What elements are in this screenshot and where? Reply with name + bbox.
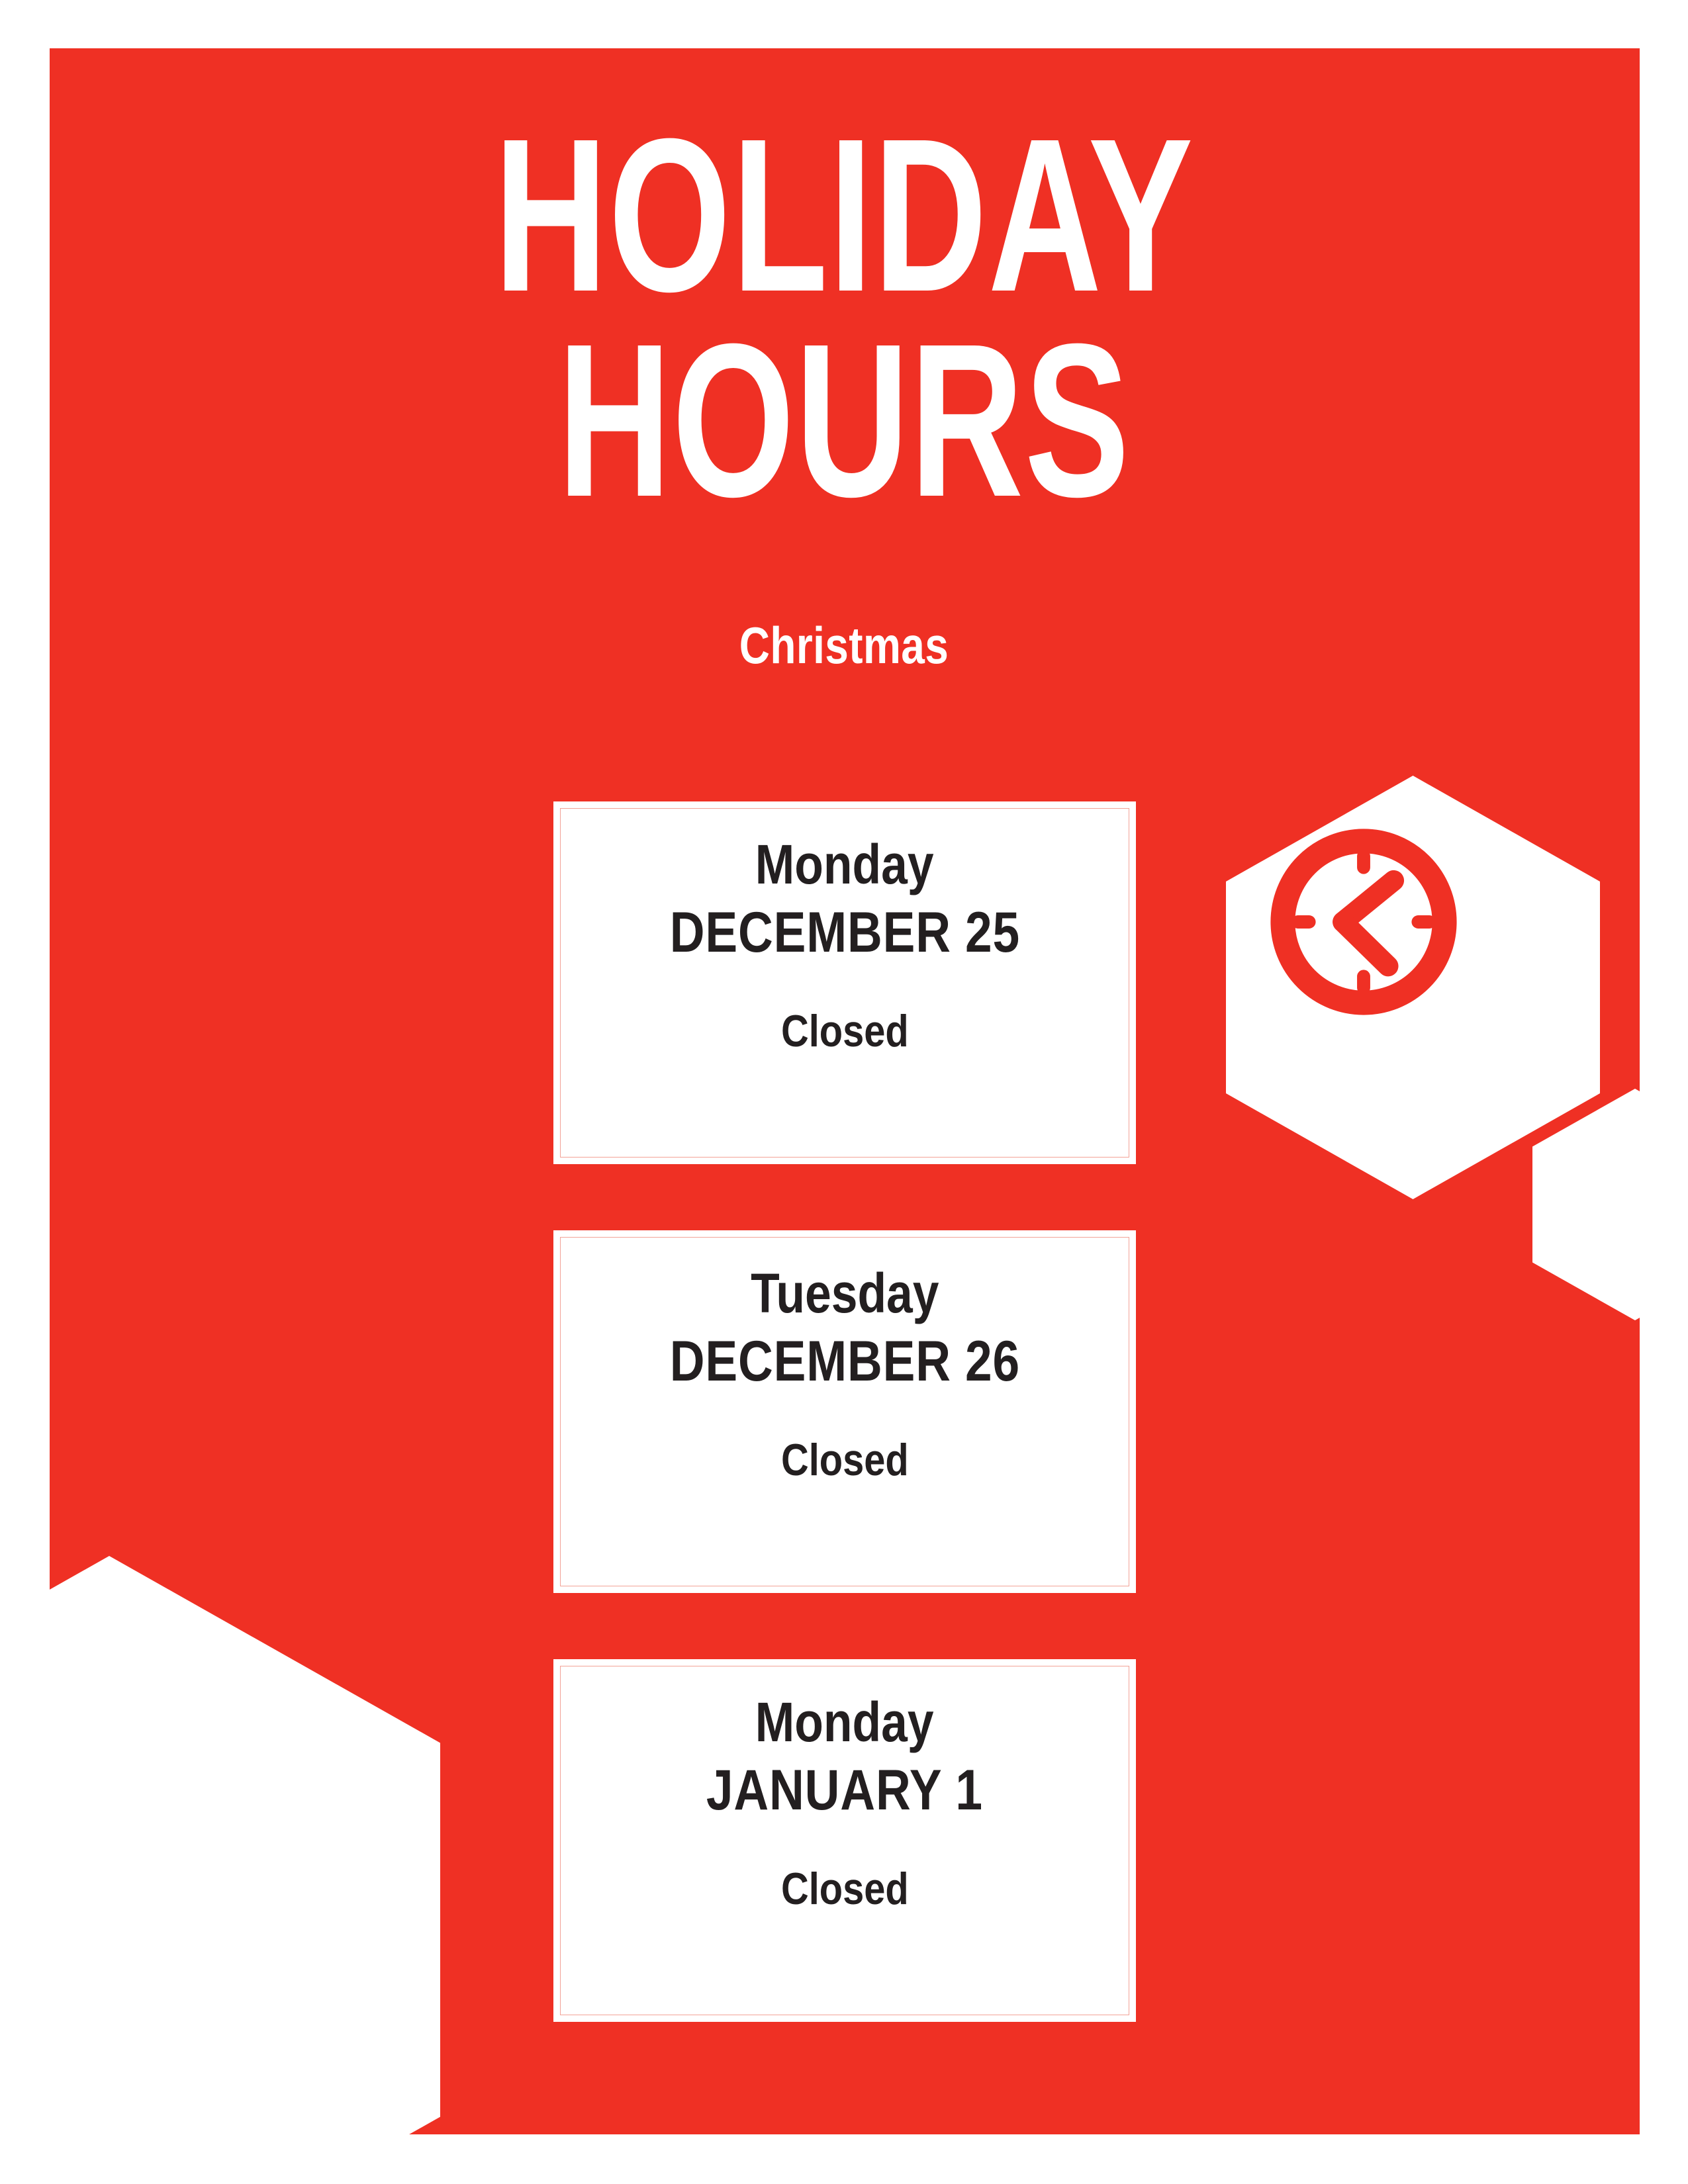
- holiday-hours-poster: HOLIDAY HOURS Christmas Monday DECEMBER …: [0, 0, 1688, 2184]
- schedule-card-inner: Tuesday DECEMBER 26 Closed: [560, 1237, 1129, 1586]
- schedule-card: Monday DECEMBER 25 Closed: [553, 801, 1136, 1164]
- schedule-list: Monday DECEMBER 25 Closed Tuesday DECEMB…: [553, 801, 1136, 2088]
- schedule-card-day: Tuesday: [734, 1265, 956, 1321]
- schedule-card-inner: Monday DECEMBER 25 Closed: [560, 808, 1129, 1158]
- poster-subtitle-text: Christmas: [739, 615, 949, 676]
- schedule-card-status: Closed: [770, 1009, 920, 1054]
- schedule-card-inner: Monday JANUARY 1 Closed: [560, 1666, 1129, 2015]
- hexagon-shape-small-icon: [1532, 1089, 1640, 1320]
- schedule-card: Tuesday DECEMBER 26 Closed: [553, 1230, 1136, 1593]
- schedule-card-status: Closed: [770, 1437, 920, 1482]
- schedule-card-status: Closed: [770, 1866, 920, 1911]
- schedule-card-date: JANUARY 1: [682, 1762, 1008, 1819]
- schedule-card-day: Monday: [739, 1694, 949, 1750]
- clock-icon: [1270, 828, 1458, 1016]
- poster-subtitle: Christmas: [0, 615, 1688, 676]
- schedule-card: Monday JANUARY 1 Closed: [553, 1659, 1136, 2022]
- schedule-card-date: DECEMBER 26: [639, 1333, 1051, 1390]
- hexagon-shape-corner-icon: [50, 1556, 440, 2134]
- schedule-card-date: DECEMBER 25: [639, 904, 1051, 961]
- schedule-card-day: Monday: [739, 837, 949, 892]
